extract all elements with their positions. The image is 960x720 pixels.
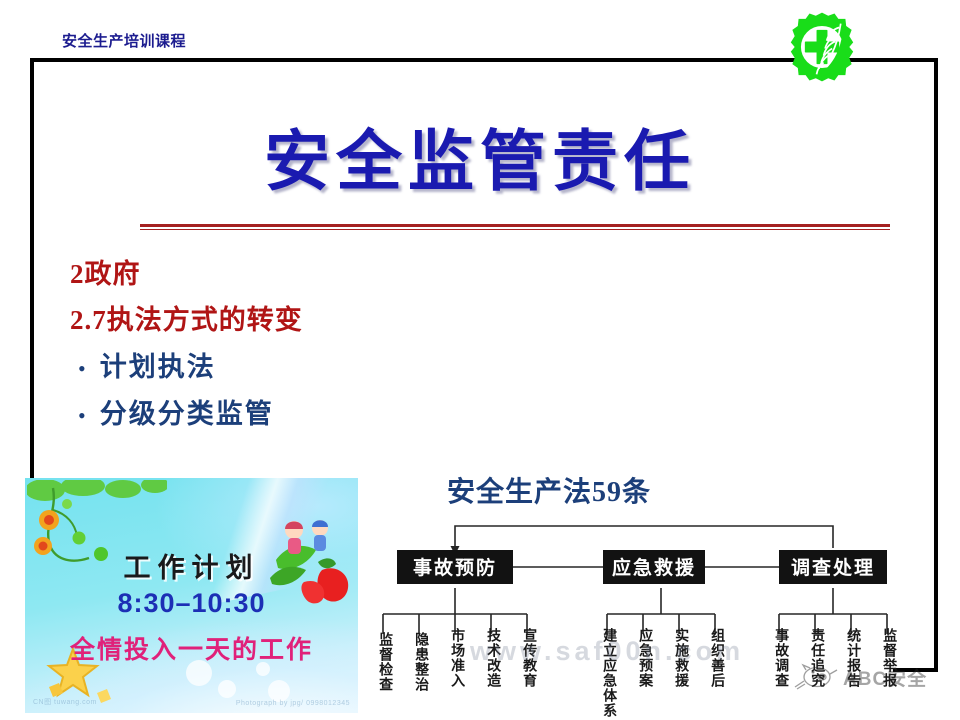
- node-label-rescue: 应急救援: [612, 556, 696, 579]
- photo-card-subtitle: 全情投入一天的工作: [25, 630, 358, 666]
- bullet-item-2: • 分级分类监管: [78, 391, 590, 438]
- title-divider: [140, 224, 890, 230]
- bullet-label-1: 计划执法: [100, 344, 216, 391]
- node-label-prevention: 事故预防: [413, 556, 497, 579]
- section-number-heading: 2政府: [70, 252, 590, 298]
- content-block: 2政府 2.7执法方式的转变 • 计划执法 • 分级分类监管: [70, 252, 590, 438]
- bullet-dot-icon: •: [78, 399, 86, 427]
- course-header-label: 安全生产培训课程: [62, 30, 186, 51]
- photo-card-time-range: 8:30–10:30: [25, 588, 358, 619]
- node-label-investigation: 调查处理: [791, 556, 875, 579]
- pig-mascot-icon: [793, 662, 839, 692]
- diagram-title: 安全生产法59条: [447, 470, 651, 510]
- bullet-dot-icon: •: [78, 352, 86, 380]
- safety-gear-cross-logo-icon: [783, 8, 861, 86]
- bullet-label-2: 分级分类监管: [100, 391, 274, 438]
- brand-watermark-label: ABC安全: [843, 664, 927, 691]
- page-title: 安全监管责任: [0, 108, 960, 204]
- brand-watermark: ABC安全: [793, 662, 927, 692]
- photo-card-title: 工作计划: [25, 546, 358, 585]
- diagram-watermark: www.saf00n.com: [470, 636, 744, 667]
- subsection-heading: 2.7执法方式的转变: [70, 298, 590, 344]
- bullet-item-1: • 计划执法: [78, 344, 590, 391]
- photo-card-watermark-left: CN图 tuwang.com: [33, 697, 97, 707]
- work-plan-image-card: 工作计划 8:30–10:30 全情投入一天的工作 CN图 tuwang.com…: [25, 478, 358, 713]
- photo-card-watermark-right: Photograph by jpg/ 0998012345: [236, 700, 350, 707]
- slide-canvas: 安全生产培训课程: [0, 0, 960, 720]
